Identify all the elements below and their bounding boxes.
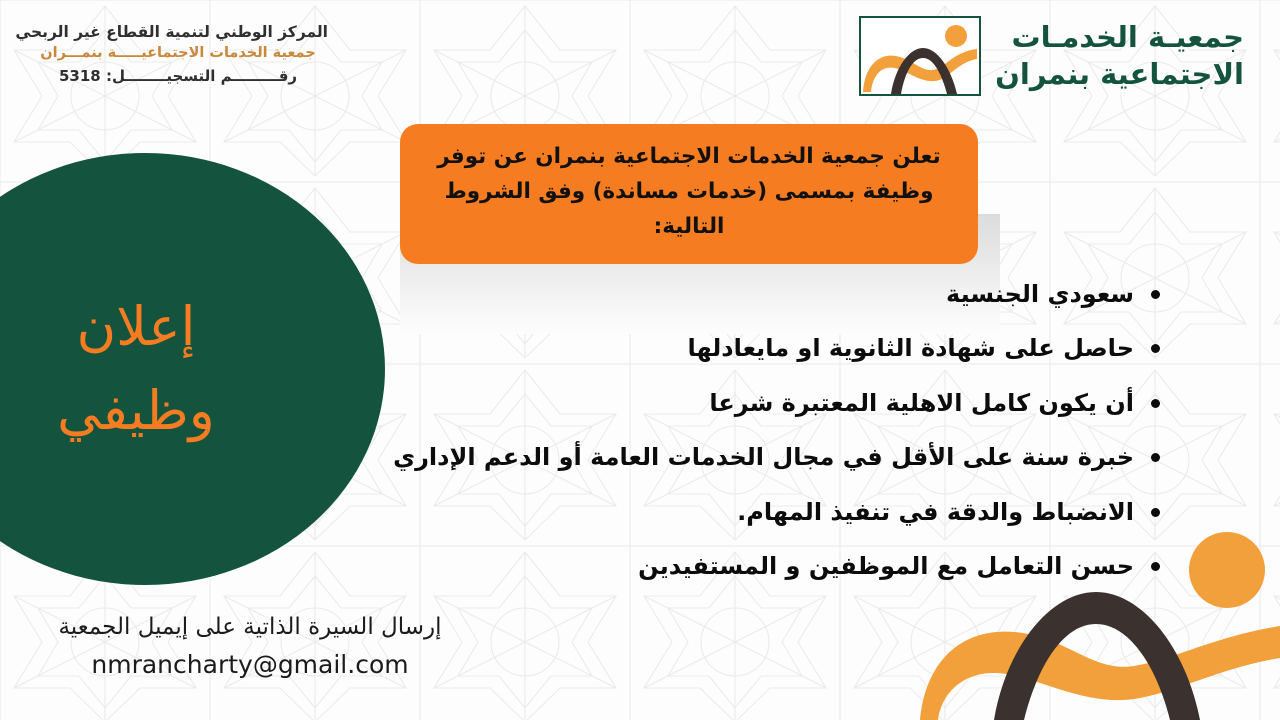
registration-number-label: رقـــــــــم التسجيــــــــل: 5318 (28, 65, 328, 88)
national-center-label: المركز الوطني لتنمية القطاع غير الربحي (28, 22, 328, 43)
logo-wordmark: جمعيـة الخدمـات الاجتماعية بنمران (995, 19, 1244, 93)
contact-email[interactable]: nmrancharty@gmail.com (30, 645, 470, 685)
logo-wordmark-line-2: الاجتماعية بنمران (995, 56, 1244, 93)
association-name-label: جمعية الخدمات الاجتماعيـــــة بنمـــران (28, 43, 328, 65)
cv-instruction-label: إرسال السيرة الذاتية على إيميل الجمعية (30, 610, 470, 645)
list-item: خبرة سنة على الأقل في مجال الخدمات العام… (422, 441, 1162, 473)
list-item: أن يكون كامل الاهلية المعتبرة شرعا (422, 387, 1162, 419)
announcement-banner: تعلن جمعية الخدمات الاجتماعية بنمران عن … (400, 124, 978, 264)
logo-wordmark-line-1: جمعيـة الخدمـات (995, 19, 1244, 56)
registration-block: المركز الوطني لتنمية القطاع غير الربحي ج… (28, 22, 328, 87)
requirements-list: سعودي الجنسية حاصل على شهادة الثانوية او… (422, 278, 1162, 604)
list-item: حاصل على شهادة الثانوية او مايعادلها (422, 332, 1162, 364)
job-announcement-poster: المركز الوطني لتنمية القطاع غير الربحي ج… (0, 0, 1280, 720)
job-announcement-badge: إعلان وظيفي (0, 153, 385, 585)
list-item: الانضباط والدقة في تنفيذ المهام. (422, 496, 1162, 528)
badge-label-line-2: وظيفي (57, 369, 215, 453)
contact-block: إرسال السيرة الذاتية على إيميل الجمعية n… (30, 610, 470, 685)
association-logo: جمعيـة الخدمـات الاجتماعية بنمران (859, 16, 1244, 96)
badge-label-line-1: إعلان (57, 285, 215, 369)
announcement-banner-text: تعلن جمعية الخدمات الاجتماعية بنمران عن … (424, 140, 954, 244)
badge-label: إعلان وظيفي (57, 285, 233, 452)
list-item: حسن التعامل مع الموظفين و المستفيدين (422, 550, 1162, 582)
list-item: سعودي الجنسية (422, 278, 1162, 310)
association-wave-sun-icon (859, 16, 981, 96)
